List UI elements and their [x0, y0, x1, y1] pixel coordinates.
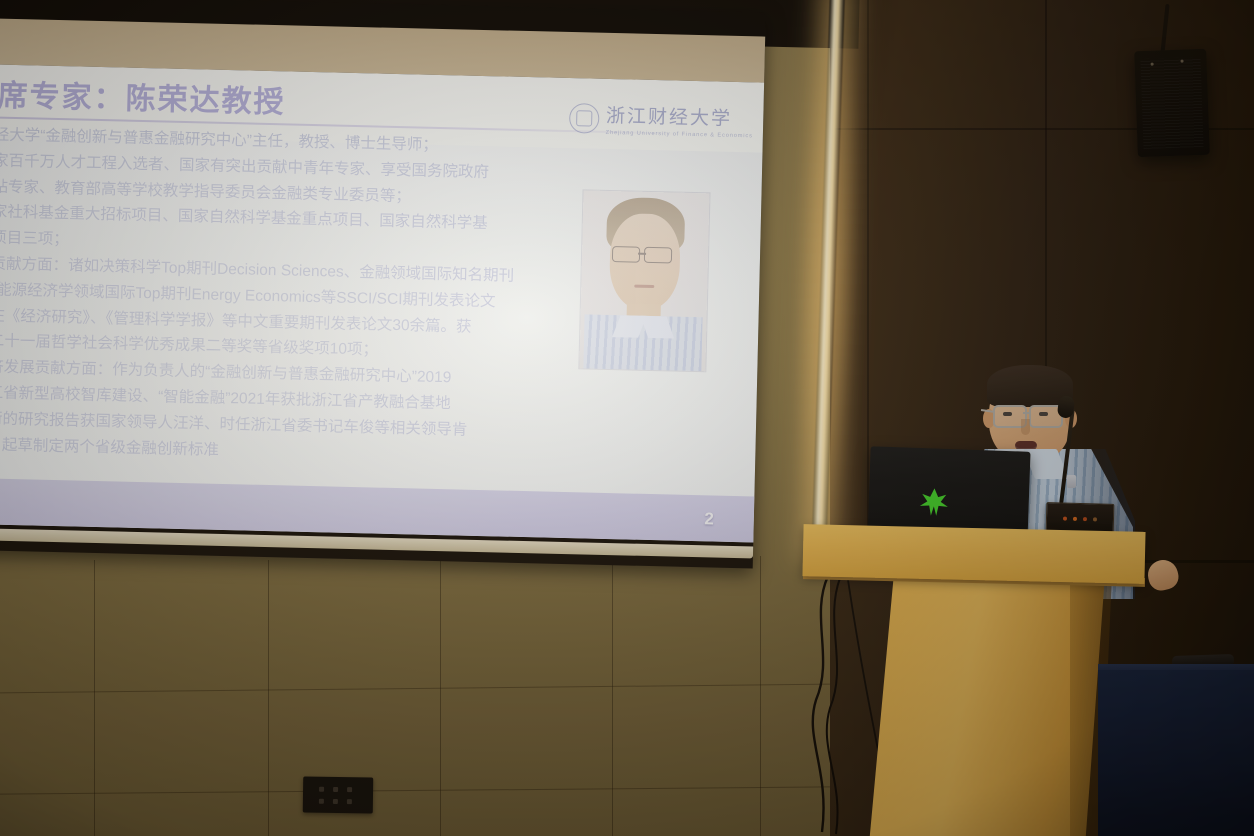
razer-logo-icon [916, 486, 951, 517]
projection-screen: 首席专家：陈荣达教授 浙江财经大学 Zhejiang University of… [0, 0, 766, 568]
presenter-glasses-bridge [1023, 412, 1031, 414]
speaker-grille [1140, 57, 1203, 149]
university-name-cn: 浙江财经大学 [606, 101, 754, 131]
university-logo: 浙江财经大学 Zhejiang University of Finance & … [569, 100, 754, 139]
ceiling-speaker [1134, 49, 1210, 157]
portrait-glasses-bridge [638, 253, 646, 255]
presenter-nose [1021, 419, 1030, 435]
draped-table [1098, 670, 1254, 836]
lectern-base [865, 575, 1105, 836]
av-wall-plate[interactable] [303, 777, 373, 814]
portrait-glasses-right [644, 247, 672, 264]
slide-title: 首席专家：陈荣达教授 [0, 70, 286, 122]
presenter-pen-badge [1067, 475, 1076, 488]
university-seal-icon [569, 103, 600, 134]
slide-page-number: 2 [704, 509, 714, 529]
projected-slide: 首席专家：陈荣达教授 浙江财经大学 Zhejiang University of… [0, 64, 764, 542]
portrait-glasses-left [612, 246, 640, 263]
professor-portrait-photo [579, 190, 709, 371]
slide-bullet-list: 工财经大学“金融创新与普惠金融研究中心”主任，教授、博士生导师； 是国家百千万人… [0, 122, 583, 472]
presentation-room-photo: 首席专家：陈荣达教授 浙江财经大学 Zhejiang University of… [0, 0, 1254, 836]
portrait-mouth [634, 285, 654, 288]
university-name-en: Zhejiang University of Finance & Economi… [606, 130, 753, 139]
lectern-top [802, 524, 1145, 584]
